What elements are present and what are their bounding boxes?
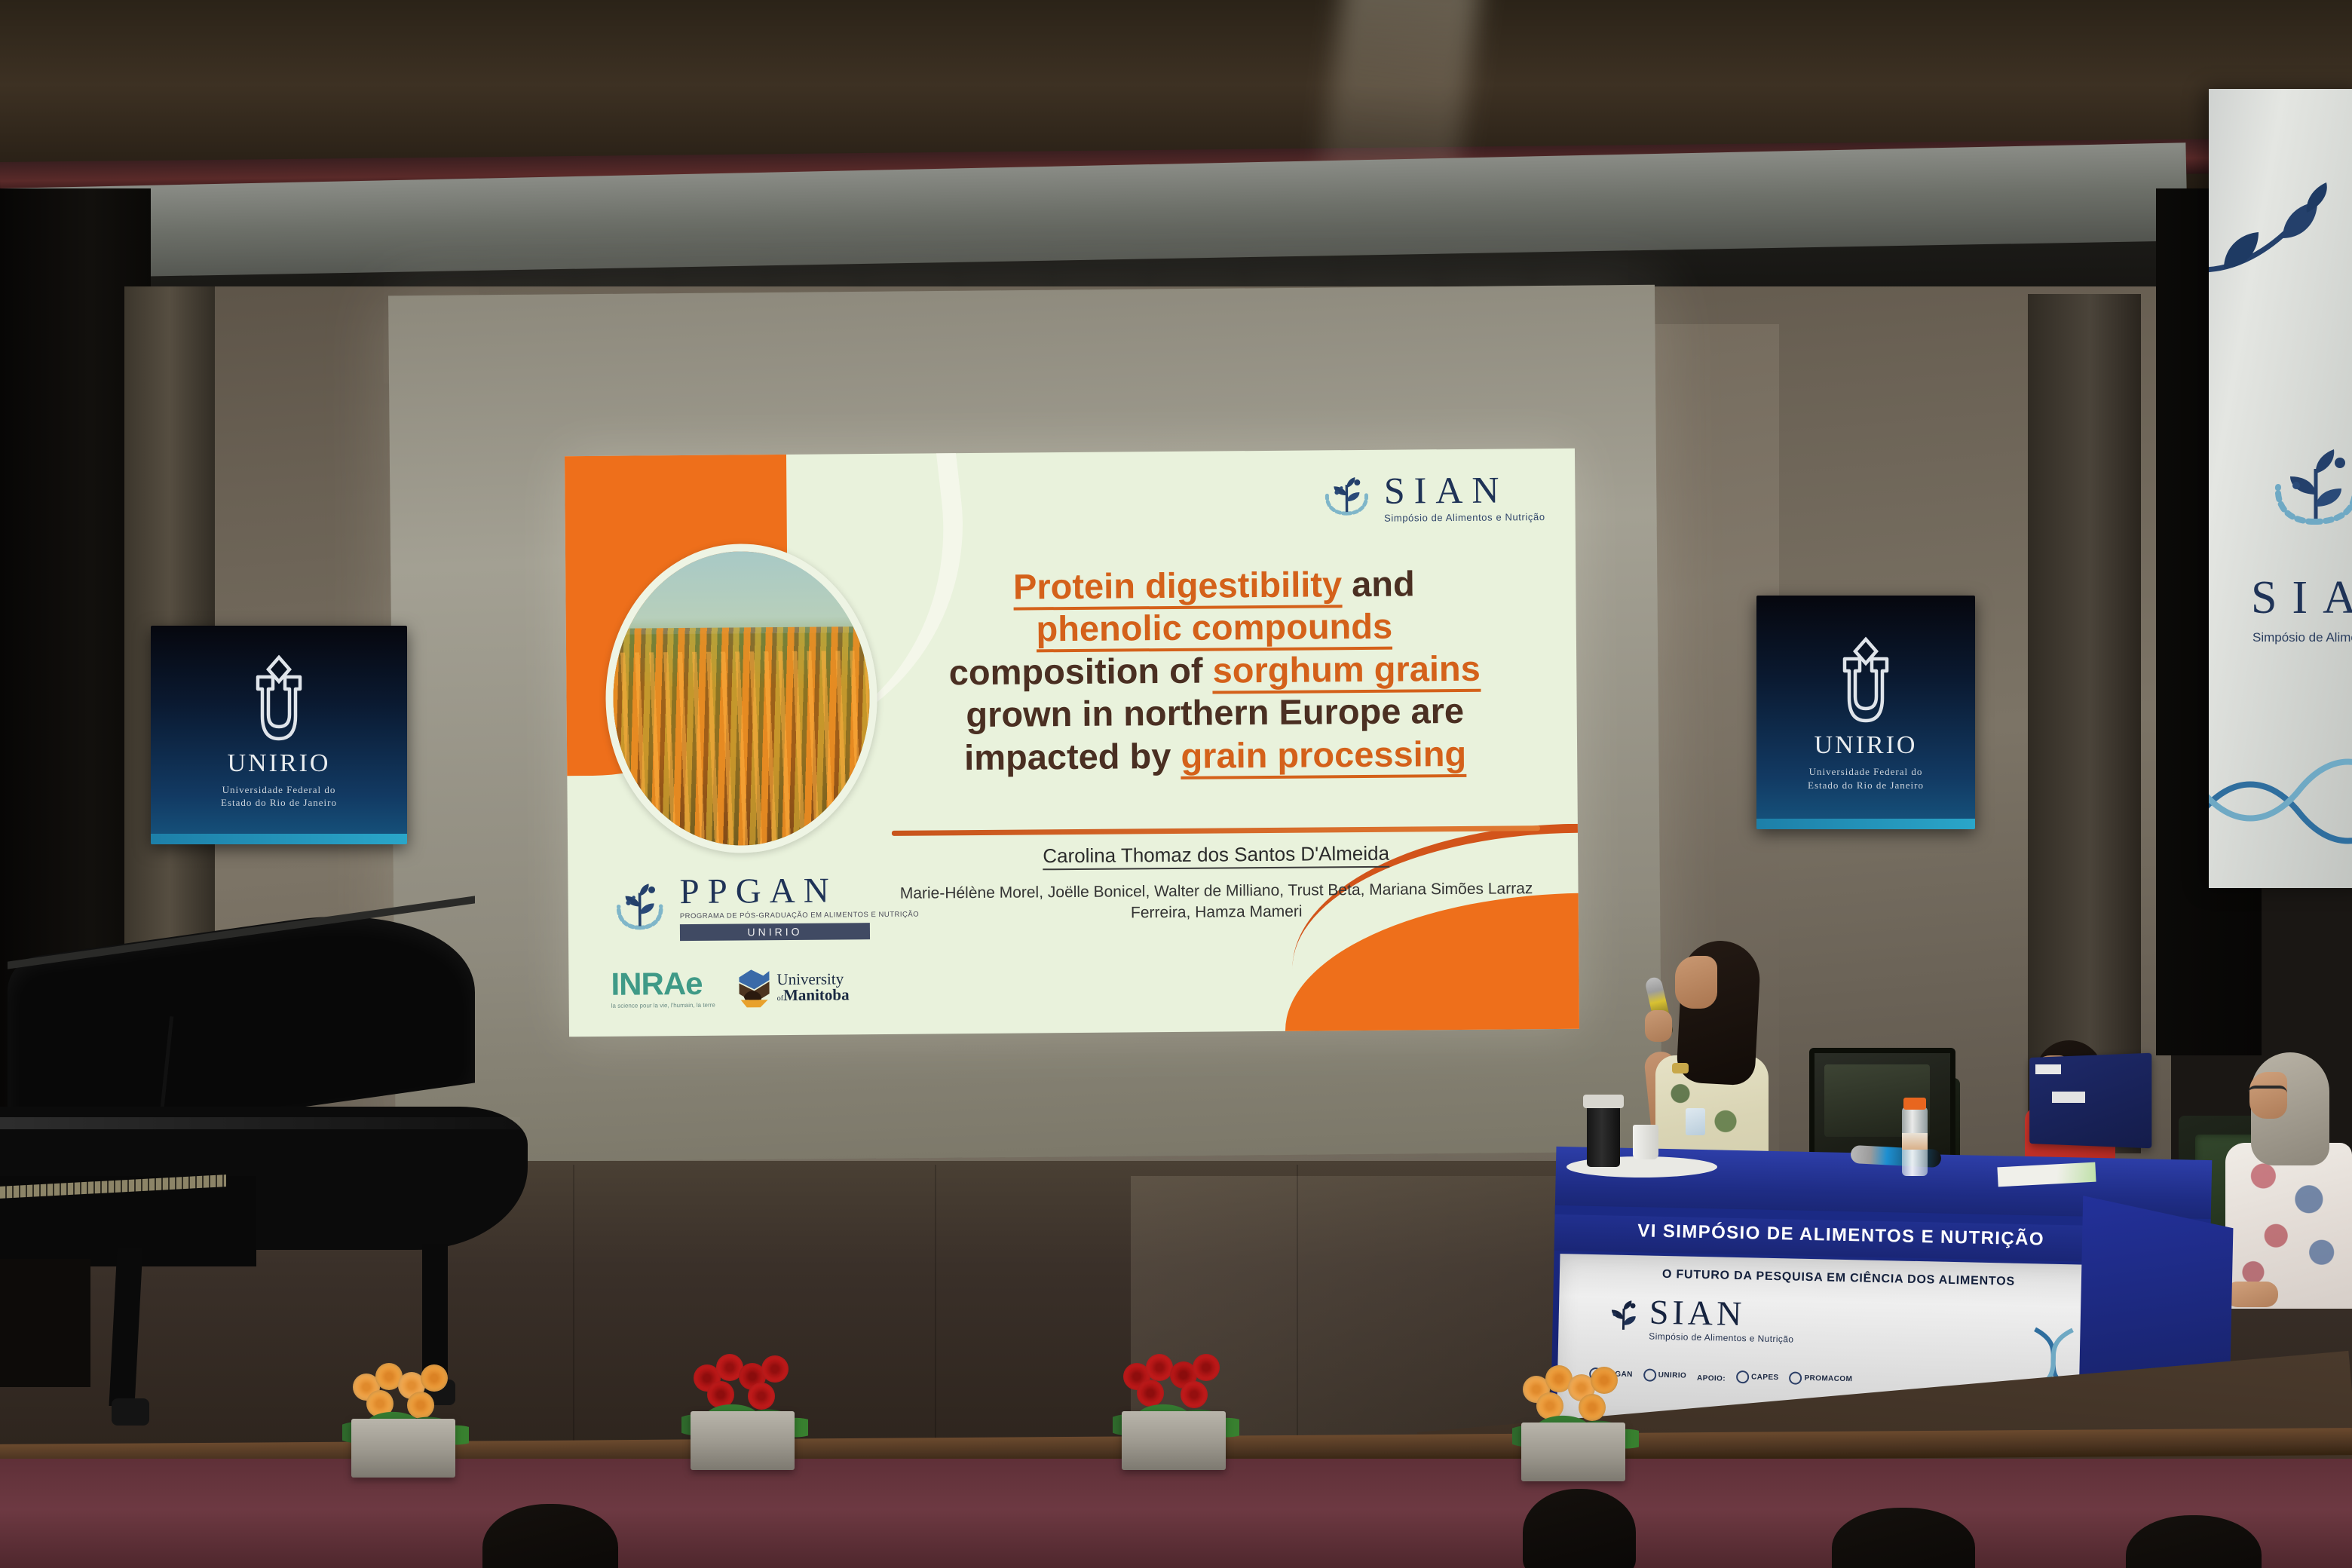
sponsor-capes: CAPES xyxy=(1736,1370,1779,1384)
sponsor-unirio-label: UNIRIO xyxy=(1658,1371,1687,1380)
sorghum-field-photo xyxy=(605,543,878,854)
speaker-name-badge xyxy=(1686,1108,1705,1135)
unirio-u-glyph-icon xyxy=(1828,636,1903,727)
sian-sprout-dna-icon xyxy=(2260,443,2352,541)
apoio-label: APOIO: xyxy=(1697,1374,1726,1383)
floor-plank xyxy=(935,1165,936,1459)
banner-footer-stripe-left xyxy=(151,834,407,844)
flower-planter-orange xyxy=(1515,1338,1636,1481)
water-bottle-cap xyxy=(1903,1098,1926,1110)
inrae-logo: INRAe la science pour la vie, l'humain, … xyxy=(611,968,715,1009)
manitoba-bison-crest-icon xyxy=(737,968,770,1007)
presentation-slide: SIAN Simpósio de Alimentos e Nutrição Pr… xyxy=(565,449,1579,1037)
sponsor-promacom: PROMACOM xyxy=(1789,1371,1852,1386)
planter-box xyxy=(1122,1411,1226,1470)
dna-helix-icon xyxy=(2209,760,2352,828)
sian-sprout-dna-icon xyxy=(1603,1297,1643,1337)
sian-tagline: Simpósio de Alimentos e Nutrição xyxy=(1384,512,1545,523)
unirio-subtitle-left-2: Estado do Rio de Janeiro xyxy=(151,796,407,810)
sian-sprout-dna-icon xyxy=(1319,470,1376,526)
unirio-wordmark-left: UNIRIO xyxy=(151,749,407,778)
slide-title: Protein digestibility and phenolic compo… xyxy=(882,562,1547,779)
slide-ppgan-logo: PPGAN PROGRAMA DE PÓS-GRADUAÇÃO EM ALIME… xyxy=(608,873,919,942)
unirio-subtitle-left-1: Universidade Federal do xyxy=(151,783,407,797)
title-highlight-protein-digestibility: Protein digestibility xyxy=(1013,564,1343,610)
title-highlight-grain-processing: grain processing xyxy=(1181,733,1466,779)
gerbera-bloom xyxy=(761,1355,789,1383)
sian-rollup-tagline: Simpósio de Alimentos e Nutrição xyxy=(2252,630,2352,645)
sponsor-promacom-label: PROMACOM xyxy=(1804,1374,1852,1383)
slide-partner-logos: INRAe la science pour la vie, l'humain, … xyxy=(611,966,849,1009)
piano-leg xyxy=(109,1248,142,1406)
speaker-face xyxy=(1675,956,1717,1009)
title-highlight-phenolic-compounds: phenolic compounds xyxy=(1036,606,1392,653)
unirio-wordmark-right: UNIRIO xyxy=(1756,731,1975,760)
paper-cup xyxy=(1633,1125,1658,1159)
gerbera-bloom xyxy=(1193,1354,1220,1381)
laptop-sticker xyxy=(2035,1064,2061,1074)
sponsor-capes-label: CAPES xyxy=(1751,1373,1779,1382)
piano-caster xyxy=(112,1398,149,1426)
auditorium-scene: SIAN Simpósio de Alimentos e Nutrição Pr… xyxy=(0,0,2352,1568)
banner-unirio-right: UNIRIO Universidade Federal do Estado do… xyxy=(1756,596,1975,829)
tumbler xyxy=(1587,1102,1620,1167)
water-bottle-label xyxy=(1902,1133,1928,1150)
floor-plank xyxy=(1297,1165,1298,1459)
planter-box xyxy=(691,1411,795,1470)
grand-piano xyxy=(0,927,558,1425)
flower-planter-orange xyxy=(345,1334,466,1478)
planter-box xyxy=(351,1419,455,1478)
sponsor-mark-icon xyxy=(1643,1368,1656,1381)
ppgan-institution-bar: UNIRIO xyxy=(680,923,870,941)
flower-planter-red xyxy=(684,1327,805,1470)
flower-planter-red xyxy=(1116,1327,1236,1470)
planter-box xyxy=(1521,1423,1625,1481)
slide-sian-logo: SIAN Simpósio de Alimentos e Nutrição xyxy=(1319,468,1545,525)
table-sian-tagline: Simpósio de Alimentos e Nutrição xyxy=(1649,1331,1793,1345)
manitoba-line2: Manitoba xyxy=(783,985,850,1004)
sian-rollup-wordmark: SIAN xyxy=(2251,571,2352,625)
gerbera-bloom xyxy=(1591,1367,1618,1394)
banner-unirio-left: UNIRIO Universidade Federal do Estado do… xyxy=(151,626,407,844)
banner-sian-rollup: SIAN Simpósio de Alimentos e Nutrição xyxy=(2209,89,2352,888)
presenter-name: Carolina Thomaz dos Santos D'Almeida xyxy=(1043,842,1389,871)
table-sian-logo: SIAN Simpósio de Alimentos e Nutrição xyxy=(1603,1294,1794,1344)
title-plain-grown-northern-europe: grown in northern Europe are xyxy=(966,691,1464,734)
ppgan-sprout-dna-icon xyxy=(608,874,671,942)
inrae-wordmark: INRAe xyxy=(611,968,715,1000)
floor-plank xyxy=(573,1165,574,1459)
photo-sorghum-highlights xyxy=(613,651,871,847)
unirio-u-glyph-icon xyxy=(241,654,317,745)
title-plain-and: and xyxy=(1342,563,1415,604)
panelist-hands xyxy=(2225,1282,2278,1307)
title-highlight-sorghum-grains: sorghum grains xyxy=(1212,648,1481,694)
inrae-tagline: la science pour la vie, l'humain, la ter… xyxy=(611,1002,715,1009)
unirio-subtitle-right-1: Universidade Federal do xyxy=(1756,765,1975,779)
sponsor-unirio: UNIRIO xyxy=(1643,1368,1687,1382)
sponsor-mark-icon xyxy=(1789,1371,1802,1384)
ppgan-subtitle: PROGRAMA DE PÓS-GRADUAÇÃO EM ALIMENTOS E… xyxy=(680,911,919,920)
eyeglasses-icon xyxy=(2248,1086,2287,1101)
pillar-right xyxy=(2028,294,2141,1153)
sponsor-mark-icon xyxy=(1736,1370,1749,1383)
audience-head xyxy=(1523,1489,1636,1568)
slide-coauthors: Marie-Hélène Morel, Joëlle Bonicel, Walt… xyxy=(899,878,1533,925)
speaker-hand xyxy=(1645,1010,1672,1042)
title-plain-composition-of: composition of xyxy=(949,650,1213,692)
speaker-watch xyxy=(1672,1063,1689,1073)
table-sian-wordmark: SIAN xyxy=(1649,1295,1794,1333)
banner-footer-stripe-right xyxy=(1756,819,1975,829)
manitoba-logo: University ofManitoba xyxy=(737,967,849,1007)
title-divider-rule xyxy=(892,825,1540,836)
gerbera-bloom xyxy=(1146,1354,1173,1381)
ppgan-wordmark: PPGAN xyxy=(679,871,838,911)
rollup-leaf-icon xyxy=(2209,179,2352,308)
piano-body-highlight xyxy=(0,1117,520,1129)
unirio-subtitle-right-2: Estado do Rio de Janeiro xyxy=(1756,779,1975,792)
title-plain-impacted-by: impacted by xyxy=(964,735,1181,776)
sponsors-label: APOIO: xyxy=(1697,1374,1726,1383)
tumbler-lid xyxy=(1583,1095,1624,1108)
laptop-sticker xyxy=(2052,1092,2085,1103)
sian-wordmark: SIAN xyxy=(1384,470,1545,510)
piano-bench xyxy=(0,1259,90,1387)
table-banner-subtitle: O FUTURO DA PESQUISA EM CIÊNCIA DOS ALIM… xyxy=(1560,1266,2118,1291)
